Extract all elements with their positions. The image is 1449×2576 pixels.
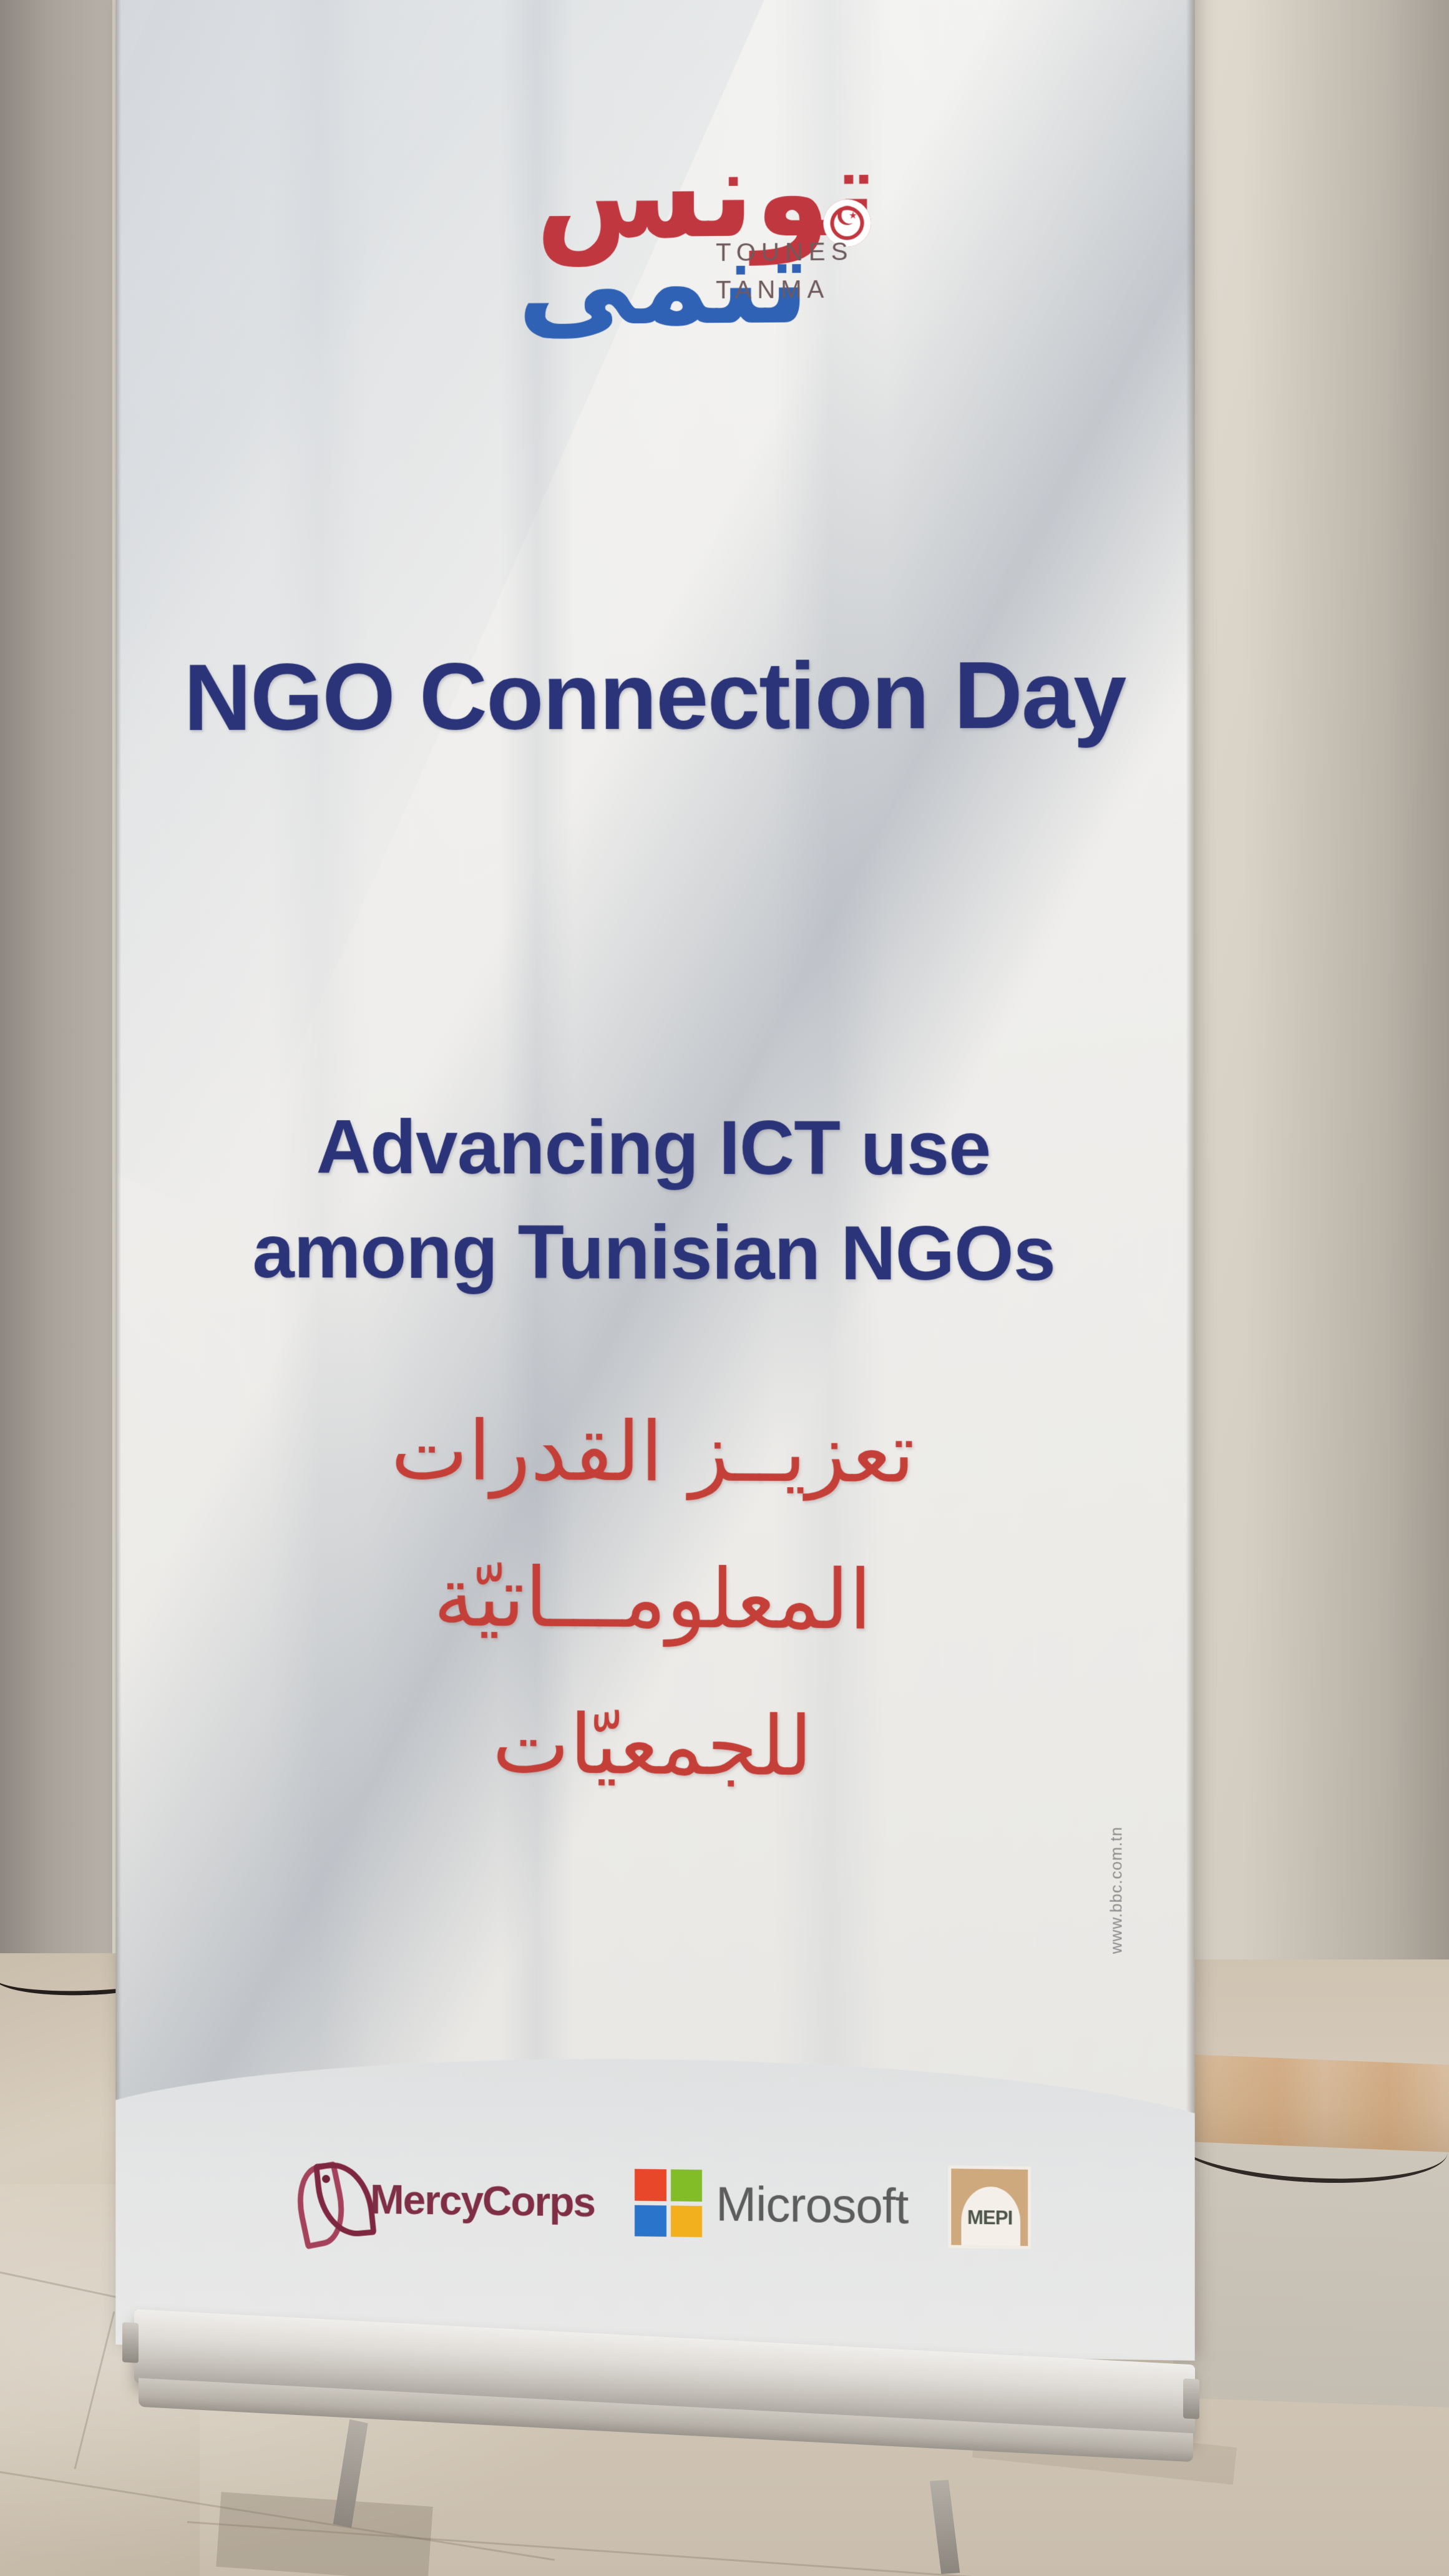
subheading-line-2: among Tunisian NGOs	[115, 1199, 1194, 1307]
arabic-line-2: المعلومـــاتيّة	[115, 1523, 1194, 1677]
rollup-banner: تونس تنمى TOUNES TANMA NGO Connection Da…	[115, 0, 1194, 2361]
arabic-line-3: للجمعيّات	[115, 1668, 1194, 1823]
sponsor-mepi: MEPI	[949, 2165, 1032, 2249]
banner-arabic-subheading: تعزيــز القدرات المعلومـــاتيّة للجمعيّا…	[115, 1377, 1194, 1824]
banner-subheading: Advancing ICT use among Tunisian NGOs	[115, 1095, 1194, 1307]
banner-stand-end-cap-right	[1183, 2378, 1199, 2419]
sponsor-logo-row: MercyCorps Microsoft MEPI	[115, 2127, 1194, 2279]
microsoft-square-red	[635, 2169, 666, 2201]
microsoft-square-green	[671, 2169, 703, 2201]
mercycorps-leaf-icon	[295, 2157, 360, 2240]
logo-latin-line-2: TANMA	[716, 271, 854, 310]
sponsor-mercycorps: MercyCorps	[295, 2157, 595, 2243]
microsoft-square-yellow	[671, 2205, 703, 2237]
mercycorps-wordmark: MercyCorps	[370, 2175, 595, 2226]
microsoft-wordmark: Microsoft	[716, 2175, 908, 2235]
microsoft-four-squares-icon	[635, 2169, 702, 2237]
wall-left-panel	[0, 0, 112, 1984]
wall-right-shadow	[1243, 0, 1449, 2028]
logo-latin-wordmark: TOUNES TANMA	[716, 233, 854, 310]
logo-latin-line-1: TOUNES	[716, 233, 854, 272]
microsoft-square-blue	[635, 2205, 666, 2237]
banner-main-heading: NGO Connection Day	[115, 647, 1194, 745]
mepi-wordmark: MEPI	[952, 2206, 1028, 2230]
printer-credit-url: www.bbc.com.tn	[1106, 1827, 1126, 1954]
floor-tile-dark	[216, 2492, 433, 2576]
leaf-dot-shape	[322, 2175, 330, 2183]
tounes-tanma-logo: تونس تنمى TOUNES TANMA	[115, 152, 1194, 372]
photo-scene: تونس تنمى TOUNES TANMA NGO Connection Da…	[0, 0, 1449, 2576]
subheading-line-1: Advancing ICT use	[115, 1095, 1194, 1202]
arabic-line-1: تعزيــز القدرات	[115, 1377, 1194, 1529]
sponsor-microsoft: Microsoft	[635, 2169, 908, 2240]
banner-stand-end-cap-left	[122, 2322, 139, 2363]
